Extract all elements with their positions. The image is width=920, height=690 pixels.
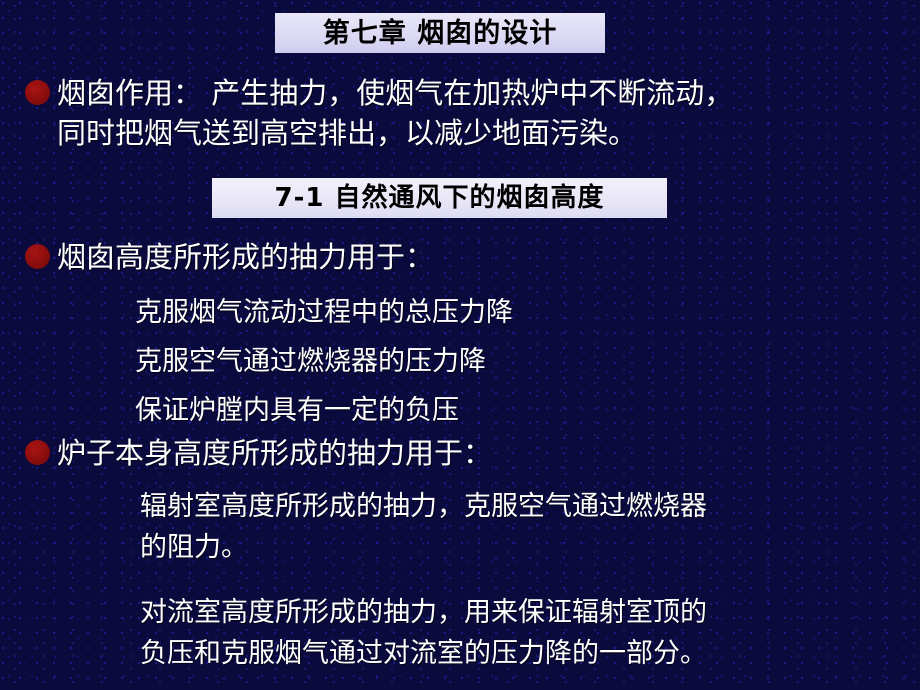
bullet-item-1-line-2: 同时把烟气送到高空排出，以减少地面污染。	[57, 113, 733, 153]
bullet-item-2-line-1: 烟囱高度所形成的抽力用于：	[57, 237, 434, 277]
slide-title-banner: 第七章 烟囱的设计	[275, 13, 605, 53]
bullet-item-1-line-1: 烟囱作用： 产生抽力，使烟气在加热炉中不断流动，	[57, 73, 733, 113]
section-header-banner: 7-1 自然通风下的烟囱高度	[212, 178, 667, 218]
bullet-item-1-text: 烟囱作用： 产生抽力，使烟气在加热炉中不断流动， 同时把烟气送到高空排出，以减少…	[57, 73, 733, 153]
sub-block-a: 辐射室高度所形成的抽力，克服空气通过燃烧器 的阻力。	[140, 486, 707, 568]
sub-item-1: 克服烟气流动过程中的总压力降	[135, 293, 513, 333]
sub-block-b: 对流室高度所形成的抽力，用来保证辐射室顶的 负压和克服烟气通过对流室的压力降的一…	[140, 592, 707, 674]
sub-item-3: 保证炉膛内具有一定的负压	[135, 391, 459, 431]
sub-block-b-line-2: 负压和克服烟气通过对流室的压力降的一部分。	[140, 633, 707, 674]
bullet-dot-icon	[25, 440, 50, 465]
bullet-item-3: 炉子本身高度所形成的抽力用于：	[25, 433, 492, 473]
sub-block-a-line-2: 的阻力。	[140, 527, 707, 568]
section-header-title: 7-1 自然通风下的烟囱高度	[274, 185, 604, 211]
bullet-dot-icon	[25, 80, 50, 105]
bullet-item-3-text: 炉子本身高度所形成的抽力用于：	[57, 433, 492, 473]
bullet-dot-icon	[25, 244, 50, 269]
bullet-item-2: 烟囱高度所形成的抽力用于：	[25, 237, 434, 277]
sub-block-b-line-1: 对流室高度所形成的抽力，用来保证辐射室顶的	[140, 592, 707, 633]
bullet-item-1: 烟囱作用： 产生抽力，使烟气在加热炉中不断流动， 同时把烟气送到高空排出，以减少…	[25, 73, 733, 153]
slide-canvas: 第七章 烟囱的设计 烟囱作用： 产生抽力，使烟气在加热炉中不断流动， 同时把烟气…	[0, 0, 920, 690]
sub-block-a-line-1: 辐射室高度所形成的抽力，克服空气通过燃烧器	[140, 486, 707, 527]
sub-item-2: 克服空气通过燃烧器的压力降	[135, 342, 486, 382]
bullet-item-2-text: 烟囱高度所形成的抽力用于：	[57, 237, 434, 277]
slide-title: 第七章 烟囱的设计	[323, 20, 557, 47]
bullet-item-3-line-1: 炉子本身高度所形成的抽力用于：	[57, 433, 492, 473]
